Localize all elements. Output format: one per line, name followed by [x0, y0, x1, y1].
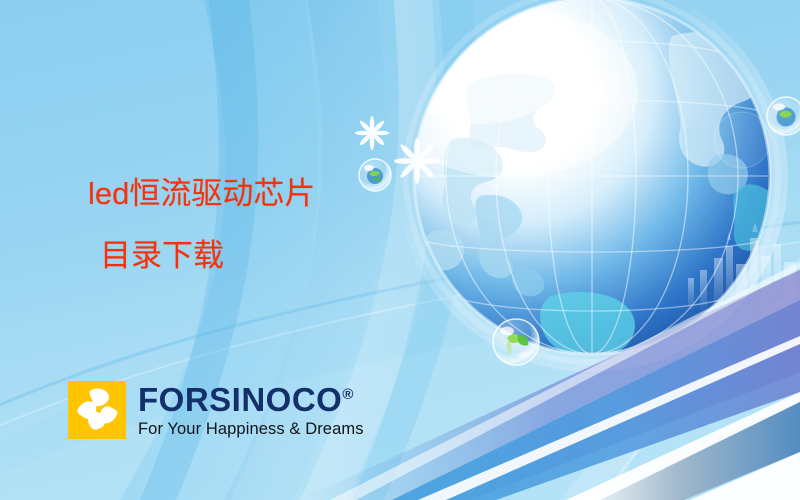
page-title: led恒流驱动芯片 目录下载	[88, 163, 315, 287]
brand-tagline: For Your Happiness & Dreams	[138, 421, 364, 438]
bubble-plain-icon	[714, 112, 770, 168]
brand-name: FORSINOCO®	[138, 383, 364, 416]
snowflake-flower-icon	[394, 138, 440, 184]
page-title-line1: led恒流驱动芯片	[88, 176, 315, 211]
page-title-line2: 目录下载	[88, 225, 315, 287]
bubble-leaf-icon	[493, 319, 539, 365]
pinwheel-flower-icon	[68, 381, 126, 439]
brand-name-word: FORSINOCO	[138, 381, 342, 418]
registered-trademark-icon: ®	[342, 386, 354, 403]
brand-logo: FORSINOCO® For Your Happiness & Dreams	[68, 381, 364, 439]
slide-canvas: led恒流驱动芯片 目录下载 FORSINOCO® For Your Happi…	[0, 0, 800, 500]
brand-text: FORSINOCO® For Your Happiness & Dreams	[138, 383, 364, 438]
snowflake-flower-icon	[355, 116, 389, 150]
bubble-globe-icon	[359, 159, 391, 191]
bubble-globe-icon	[767, 97, 800, 135]
